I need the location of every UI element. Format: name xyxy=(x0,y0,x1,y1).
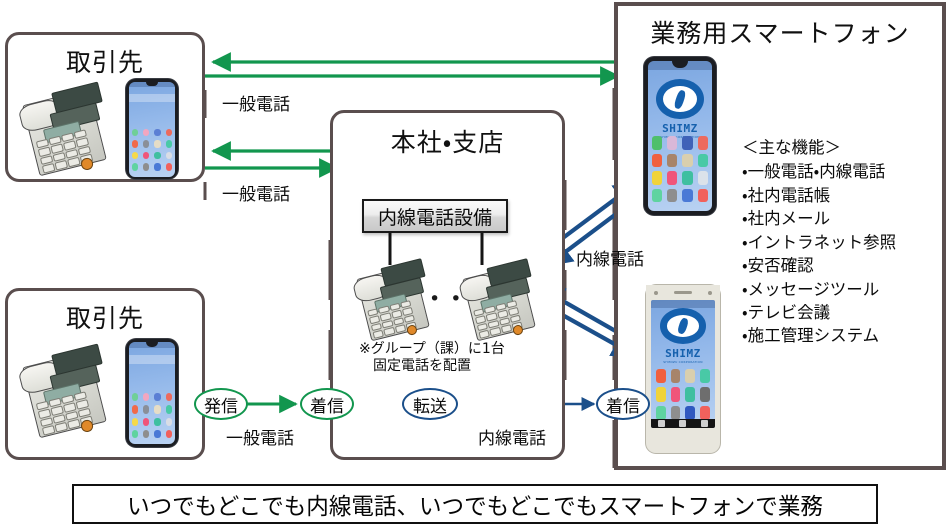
flow-step-incoming-call-mobile[interactable]: 着信 xyxy=(596,388,650,420)
business-smartphone-lower: SHIMZ SHIMIZU CORPORATION xyxy=(646,285,720,453)
desk-phone-icon xyxy=(18,343,106,439)
label-public-phone-mid: 一般電話 xyxy=(222,180,290,205)
smartphone-panel-title: 業務用スマートフォン xyxy=(618,14,942,50)
label-public-phone-top: 一般電話 xyxy=(222,90,290,115)
shimz-wordmark: SHIMZ xyxy=(662,122,698,135)
panel-partner-top: 取引先 xyxy=(5,32,205,182)
panel-partner-bottom: 取引先 xyxy=(5,288,205,460)
feature-list-heading: ＜主な機能＞ xyxy=(742,136,942,159)
summary-banner-text: いつでもどこでも内線電話、いつでもどこでもスマートフォンで業務 xyxy=(127,487,823,521)
label-extension-bottom: 内線電話 xyxy=(478,424,546,449)
feature-item: 一般電話・内線電話 xyxy=(742,160,942,183)
shimz-wordmark: SHIMZ xyxy=(665,347,701,360)
flow-step-label: 転送 xyxy=(413,392,447,417)
feature-item: メッセージツール xyxy=(742,278,942,301)
feature-item: テレビ会議 xyxy=(742,301,942,324)
desk-phone-icon xyxy=(352,258,428,342)
flow-step-label: 着信 xyxy=(310,392,344,417)
feature-item: 社内電話帳 xyxy=(742,184,942,207)
label-extension-mid: 内線電話 xyxy=(576,245,644,270)
business-smartphone-upper: SHIMZ SHIMIZU CORPORATION xyxy=(644,57,716,215)
smartphone-icon xyxy=(126,339,178,447)
public-phone-arrows-mid xyxy=(205,151,345,168)
desk-phone-icon xyxy=(18,81,106,177)
label-public-phone-bottom: 一般電話 xyxy=(226,424,294,449)
partner-bottom-title: 取引先 xyxy=(8,299,202,335)
diagram-canvas: 取引先 取 xyxy=(0,0,950,530)
feature-item: 施工管理システム xyxy=(742,324,942,347)
extension-equipment-label: 内線電話設備 xyxy=(378,203,492,230)
extension-equipment-box: 内線電話設備 xyxy=(362,199,508,233)
flow-step-label: 着信 xyxy=(606,392,640,417)
flow-step-transfer[interactable]: 転送 xyxy=(402,388,458,420)
feature-item: 安否確認 xyxy=(742,254,942,277)
flow-step-incoming-call[interactable]: 着信 xyxy=(300,388,354,420)
flow-step-label: 発信 xyxy=(204,392,238,417)
fixed-phone-note-line2: 固定電話を配置 xyxy=(373,358,471,376)
desk-phone-icon xyxy=(458,258,534,342)
flow-step-outgoing-call[interactable]: 発信 xyxy=(194,388,248,420)
hq-title: 本社・支店 xyxy=(333,123,562,159)
feature-list: ＜主な機能＞ 一般電話・内線電話 社内電話帳 社内メール イントラネット参照 安… xyxy=(742,136,942,348)
feature-item: イントラネット参照 xyxy=(742,231,942,254)
summary-banner: いつでもどこでも内線電話、いつでもどこでもスマートフォンで業務 xyxy=(72,484,878,524)
fixed-phone-note-line1: ※グループ（課）に1台 xyxy=(359,341,505,359)
shimz-subtext: SHIMIZU CORPORATION xyxy=(663,360,702,364)
feature-items: 一般電話・内線電話 社内電話帳 社内メール イントラネット参照 安否確認 メッセ… xyxy=(742,160,942,347)
partner-top-title: 取引先 xyxy=(8,43,202,79)
public-phone-arrows-top xyxy=(205,62,626,76)
feature-item: 社内メール xyxy=(742,207,942,230)
smartphone-icon xyxy=(126,79,178,179)
